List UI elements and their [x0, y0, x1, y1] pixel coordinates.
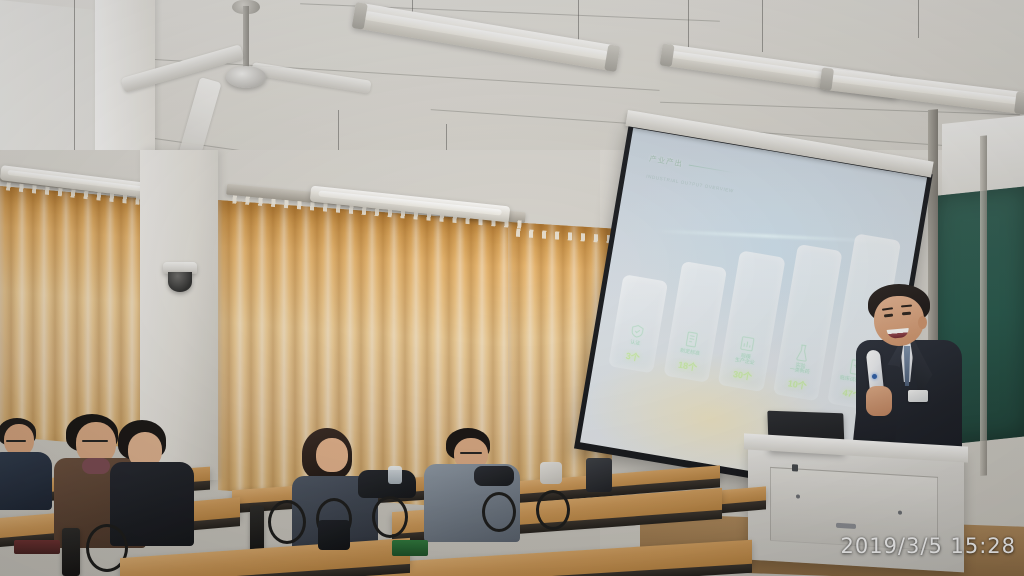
slide-card-value: 30个 — [732, 367, 753, 383]
paper-stack — [540, 462, 562, 484]
hand — [866, 386, 892, 416]
backpack — [358, 470, 416, 498]
document-list-icon — [684, 331, 700, 349]
chair-back[interactable] — [482, 492, 516, 532]
chair[interactable] — [62, 528, 80, 576]
dome-security-camera-lens — [168, 272, 192, 292]
slide-card: 规模 生产企业 30个 — [718, 251, 786, 393]
flask-icon — [795, 343, 811, 362]
slide-card: 认证 3个 — [608, 275, 668, 374]
window-curtain — [0, 186, 152, 449]
bag — [586, 458, 612, 492]
water-cup — [388, 466, 402, 484]
classroom-photo: 产业产出 INDUSTRIAL OUTPUT OVERVIEW 认证 3 — [0, 0, 1024, 576]
book — [14, 540, 60, 554]
microphone-indicator — [872, 374, 877, 379]
bag — [318, 520, 350, 550]
slide-subtitle: INDUSTRIAL OUTPUT OVERVIEW — [646, 174, 734, 194]
slide-card-label: 规模 生产企业 — [734, 353, 756, 368]
name-badge — [908, 390, 928, 402]
hanging-wire — [918, 0, 919, 38]
lectern-lock[interactable] — [792, 464, 798, 471]
slide-card-label: 实验 一类新药 — [789, 362, 811, 377]
slide-card-value: 10个 — [787, 376, 808, 392]
slide-card: 制定标准 18个 — [663, 261, 727, 383]
chart-bars-icon — [739, 335, 756, 353]
slide-card-label: 认证 — [629, 341, 640, 348]
slide-header: 产业产出 — [648, 153, 735, 178]
face — [874, 296, 924, 346]
chair-back[interactable] — [536, 490, 570, 530]
chair[interactable] — [250, 506, 264, 552]
slide-card-value: 3个 — [625, 349, 641, 364]
student — [0, 418, 56, 508]
hanging-wire — [762, 0, 763, 52]
camera-timestamp: 2019/3/5 15:28 — [840, 534, 1016, 558]
slide-title-rule — [689, 165, 735, 174]
book — [392, 540, 428, 556]
student — [112, 420, 190, 540]
shield-check-icon — [629, 324, 645, 340]
chair-back[interactable] — [372, 496, 408, 538]
slide-card-value: 18个 — [677, 358, 698, 374]
board-frame — [980, 135, 987, 476]
slide-card-label: 制定标准 — [679, 349, 700, 358]
slide-title: 产业产出 — [648, 153, 683, 170]
backpack — [474, 466, 514, 486]
chair-back[interactable] — [268, 500, 306, 544]
